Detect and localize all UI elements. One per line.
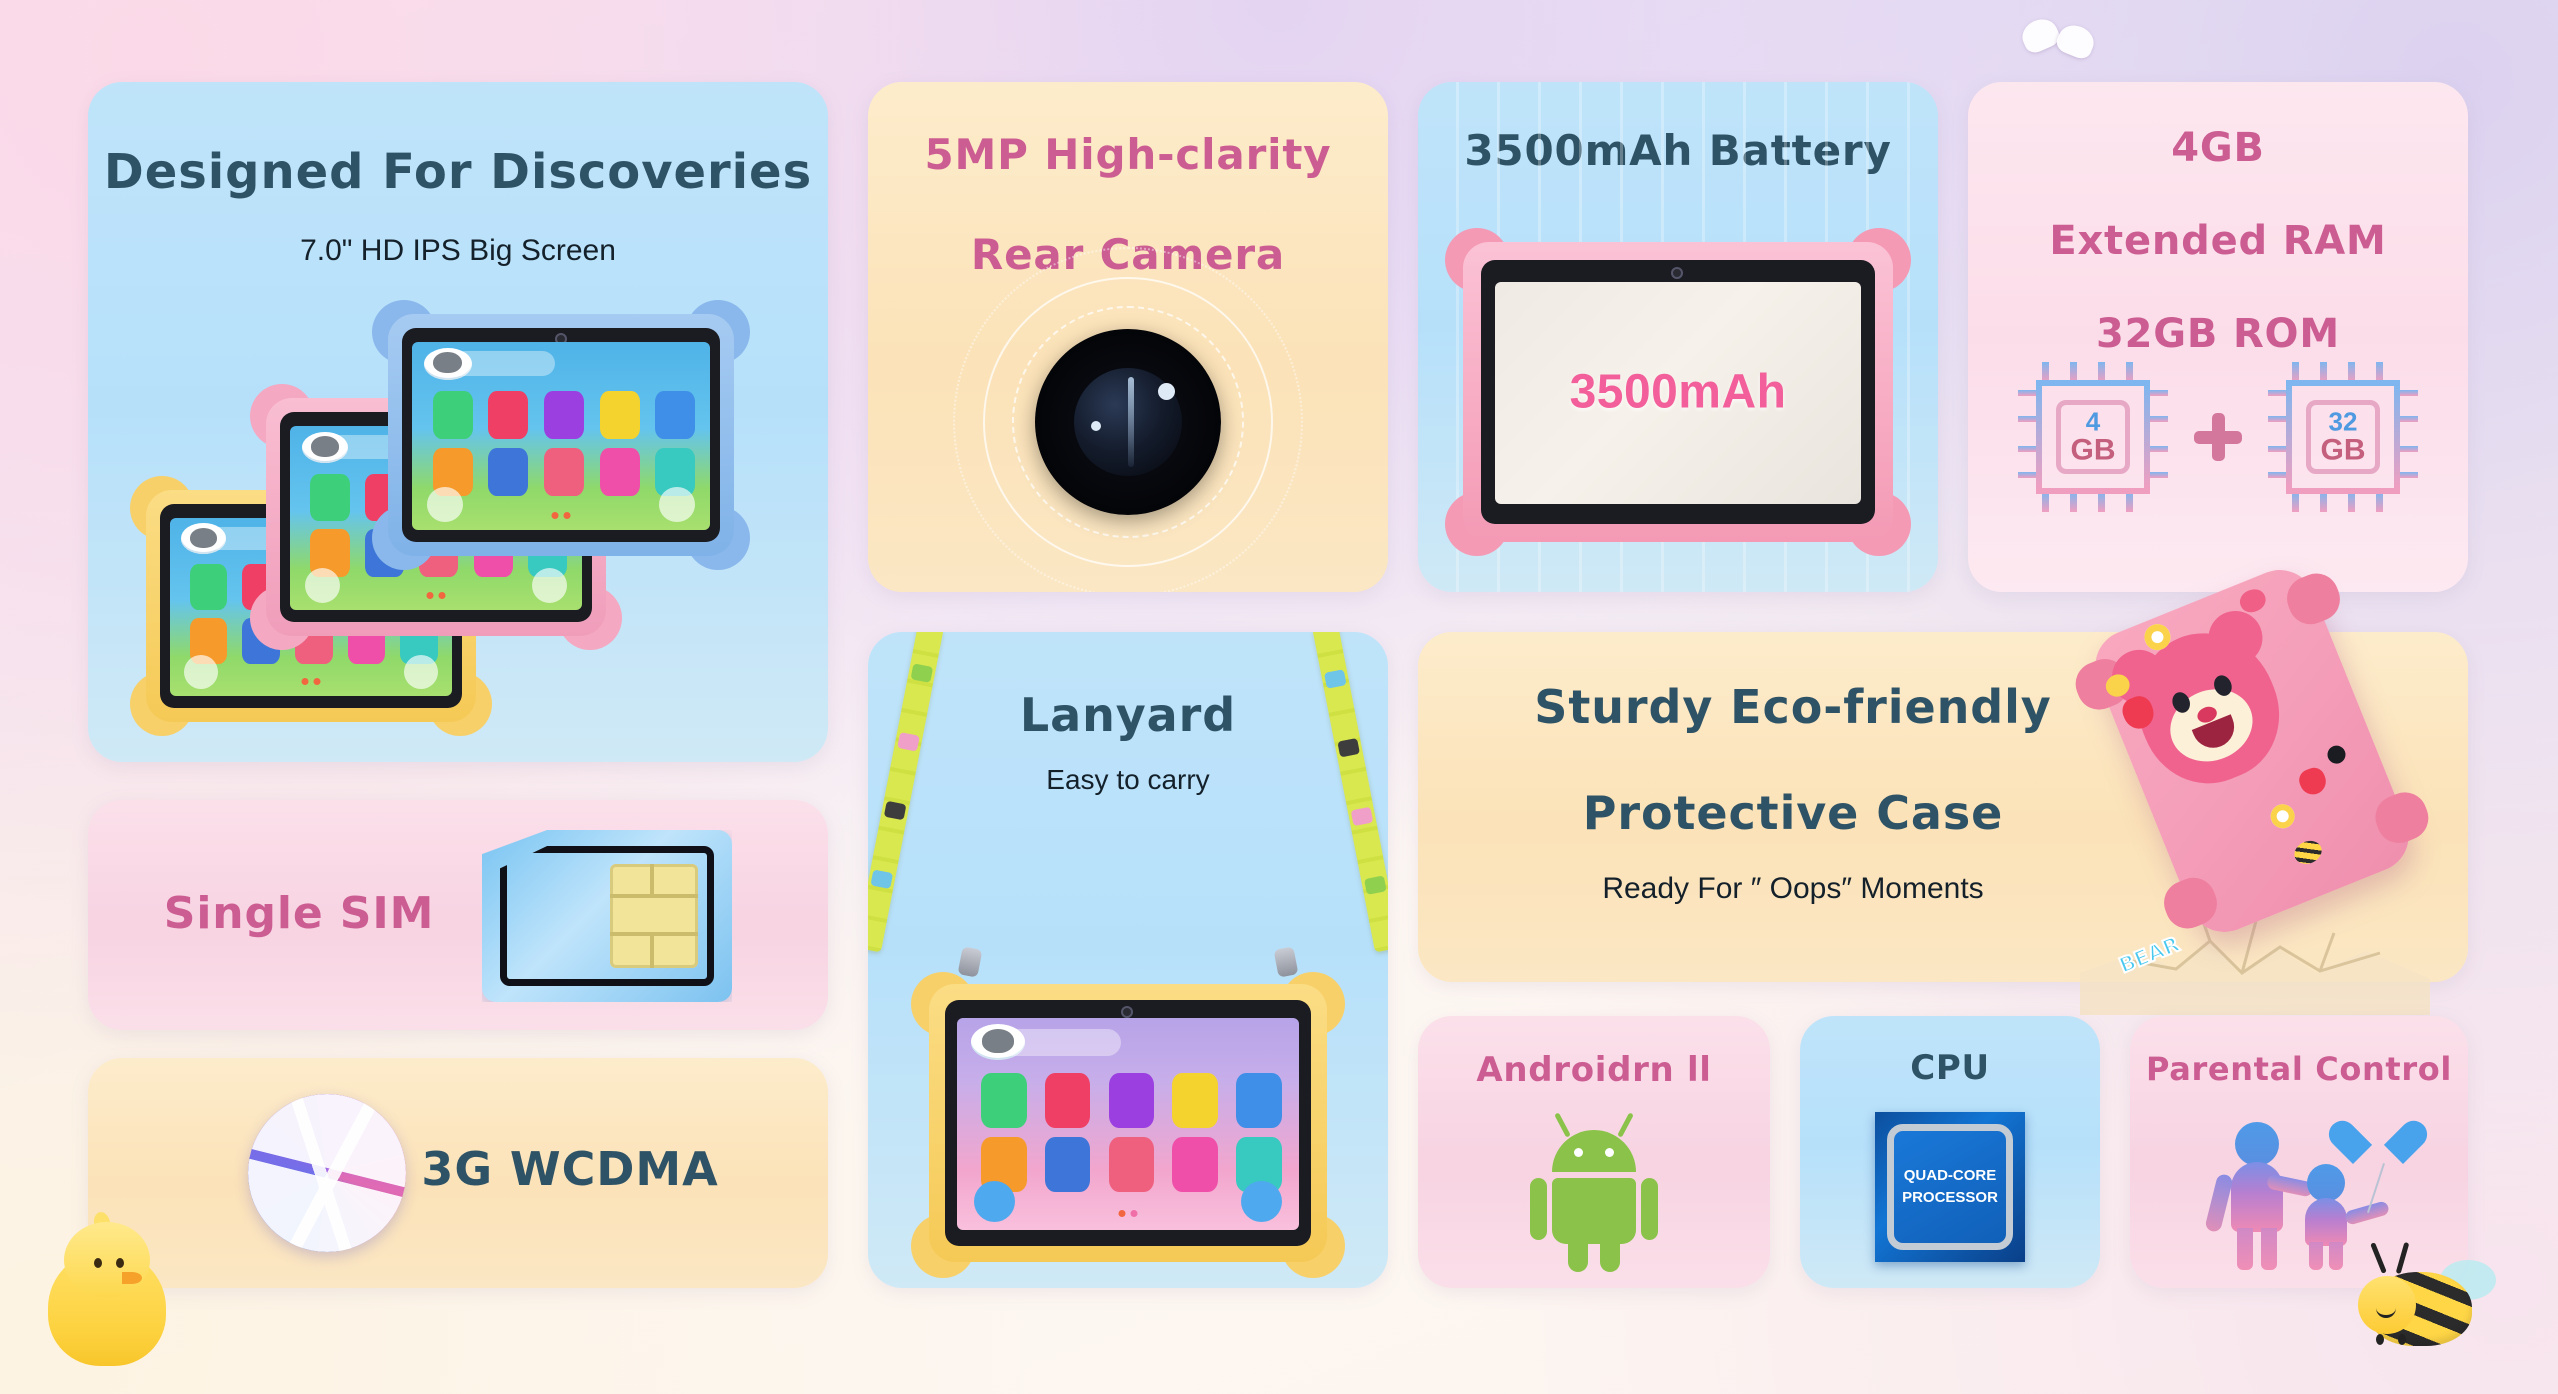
- case-title-line1: Sturdy Eco-friendly: [1418, 678, 2468, 738]
- card-designed-for-discoveries: Designed For Discoveries 7.0" HD IPS Big…: [88, 82, 828, 762]
- case-subtitle: Ready For ″ Oops″ Moments: [1418, 872, 2468, 906]
- lanyard-subtitle: Easy to carry: [868, 764, 1388, 796]
- memory-line2: Extended RAM: [1968, 215, 2468, 268]
- lanyard-clip-left-icon: [958, 946, 983, 977]
- card-lanyard: Lanyard Easy to carry: [868, 632, 1388, 1288]
- card-single-sim: Single SIM: [88, 800, 828, 1030]
- card-battery: 3500mAh Battery 3500mAh: [1418, 82, 1938, 592]
- case-title-line2: Protective Case: [1418, 784, 2468, 844]
- ram-chip-icon: 4 GB: [2018, 362, 2168, 512]
- camera-lens-icon: [868, 272, 1388, 572]
- card-protective-case: Sturdy Eco-friendly Protective Case Read…: [1418, 632, 2468, 982]
- heart-balloon-icon: [2353, 1122, 2403, 1168]
- infographic-canvas: Designed For Discoveries 7.0" HD IPS Big…: [0, 0, 2558, 1394]
- card-cpu: CPU QUAD-CORE PROCESSOR: [1800, 1016, 2100, 1288]
- cpu-chip-icon: QUAD-CORE PROCESSOR: [1875, 1112, 2025, 1262]
- card-android-version: Androidrn ll: [1418, 1016, 1770, 1288]
- cpu-chip-line1: QUAD-CORE: [1904, 1165, 1997, 1188]
- cpu-chip-line2: PROCESSOR: [1902, 1187, 1998, 1210]
- blue-tablet: [388, 314, 734, 556]
- lanyard-clip-right-icon: [1274, 946, 1299, 977]
- card-3g-network: 3G WCDMA: [88, 1058, 828, 1288]
- design-subtitle: 7.0" HD IPS Big Screen: [88, 234, 828, 268]
- memory-line1: 4GB: [1968, 122, 2468, 175]
- rom-chip-unit: GB: [2268, 435, 2418, 466]
- battery-badge: 3500mAh: [1570, 365, 1787, 420]
- butterfly-icon: [2022, 16, 2094, 78]
- lanyard-tablet-image: [929, 984, 1327, 1262]
- chick-icon: [38, 1216, 178, 1366]
- plus-icon: [2188, 407, 2248, 467]
- android-title: Androidrn ll: [1418, 1050, 1770, 1090]
- sim-title: Single SIM: [134, 888, 464, 939]
- android-robot-icon: [1534, 1124, 1654, 1254]
- rom-chip-size: 32: [2268, 408, 2418, 435]
- camera-title-line1: 5MP High-clarity: [868, 128, 1388, 182]
- sim-card-icon: [482, 830, 732, 1002]
- rom-chip-icon: 32 GB: [2268, 362, 2418, 512]
- network-title: 3G WCDMA: [370, 1142, 770, 1196]
- ram-chip-size: 4: [2018, 408, 2168, 435]
- design-title: Designed For Discoveries: [88, 144, 828, 200]
- lanyard-title: Lanyard: [868, 688, 1388, 742]
- card-memory: 4GB Extended RAM 32GB ROM: [1968, 82, 2468, 592]
- battery-tablet-image: 3500mAh: [1463, 242, 1893, 542]
- bee-icon: [2352, 1238, 2502, 1358]
- ram-chip-unit: GB: [2018, 435, 2168, 466]
- memory-chip-group: 4 GB: [1968, 332, 2468, 542]
- parental-title: Parental Control: [2130, 1050, 2468, 1088]
- cpu-title: CPU: [1800, 1048, 2100, 1088]
- parent-figure: [2213, 1122, 2299, 1270]
- tablet-stack: [88, 312, 828, 762]
- card-rear-camera: 5MP High-clarity Rear Camera: [868, 82, 1388, 592]
